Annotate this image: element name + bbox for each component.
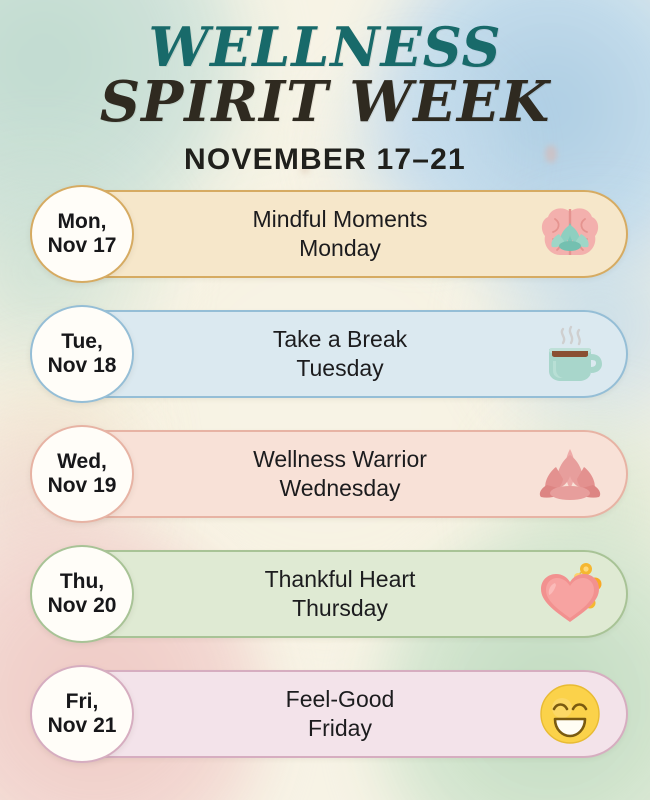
badge-day: Fri, — [66, 690, 99, 714]
theme-text: Take a Break Tuesday — [150, 310, 530, 398]
smiling-face-icon — [534, 679, 606, 749]
page-title-spirit-week: SPIRIT WEEK — [0, 76, 650, 130]
theme-line-1: Mindful Moments — [252, 205, 427, 234]
poster-header: WELLNESS SPIRIT WEEK NOVEMBER 17–21 — [0, 22, 650, 177]
theme-line-2: Monday — [299, 234, 381, 263]
date-badge-tuesday: Tue, Nov 18 — [30, 305, 134, 403]
badge-day: Wed, — [57, 450, 107, 474]
date-badge-thursday: Thu, Nov 20 — [30, 545, 134, 643]
schedule-row-tuesday[interactable]: Take a Break Tuesday Tue, Nov 18 — [0, 305, 650, 425]
theme-line-2: Thursday — [292, 594, 388, 623]
date-badge-wednesday: Wed, Nov 19 — [30, 425, 134, 523]
wellness-spirit-week-poster: WELLNESS SPIRIT WEEK NOVEMBER 17–21 Mind… — [0, 0, 650, 800]
schedule-row-thursday[interactable]: Thankful Heart Thursday — [0, 545, 650, 665]
badge-date: Nov 18 — [48, 354, 117, 378]
theme-text: Feel-Good Friday — [150, 670, 530, 758]
date-badge-friday: Fri, Nov 21 — [30, 665, 134, 763]
badge-date: Nov 21 — [48, 714, 117, 738]
badge-day: Mon, — [58, 210, 107, 234]
badge-date: Nov 19 — [48, 474, 117, 498]
brain-lotus-icon — [534, 199, 606, 269]
theme-line-2: Tuesday — [296, 354, 383, 383]
schedule-row-monday[interactable]: Mindful Moments Monday — [0, 185, 650, 305]
theme-text: Mindful Moments Monday — [150, 190, 530, 278]
schedule-list: Mindful Moments Monday — [0, 185, 650, 785]
theme-text: Thankful Heart Thursday — [150, 550, 530, 638]
schedule-row-wednesday[interactable]: Wellness Warrior Wednesday Wed, Nov 19 — [0, 425, 650, 545]
date-badge-monday: Mon, Nov 17 — [30, 185, 134, 283]
page-title-wellness: WELLNESS — [0, 22, 650, 74]
badge-day: Thu, — [60, 570, 104, 594]
badge-day: Tue, — [61, 330, 103, 354]
theme-line-1: Take a Break — [273, 325, 407, 354]
theme-line-1: Thankful Heart — [265, 565, 416, 594]
theme-line-2: Friday — [308, 714, 372, 743]
badge-date: Nov 20 — [48, 594, 117, 618]
coffee-mug-icon — [534, 319, 606, 389]
theme-line-2: Wednesday — [279, 474, 400, 503]
theme-line-1: Wellness Warrior — [253, 445, 427, 474]
theme-text: Wellness Warrior Wednesday — [150, 430, 530, 518]
theme-line-1: Feel-Good — [286, 685, 395, 714]
lotus-flower-icon — [534, 439, 606, 509]
poster-date-range: NOVEMBER 17–21 — [0, 143, 650, 177]
heart-flowers-icon — [534, 559, 606, 629]
schedule-row-friday[interactable]: Feel-Good Friday Fri, Nov 21 — [0, 665, 650, 785]
badge-date: Nov 17 — [48, 234, 117, 258]
